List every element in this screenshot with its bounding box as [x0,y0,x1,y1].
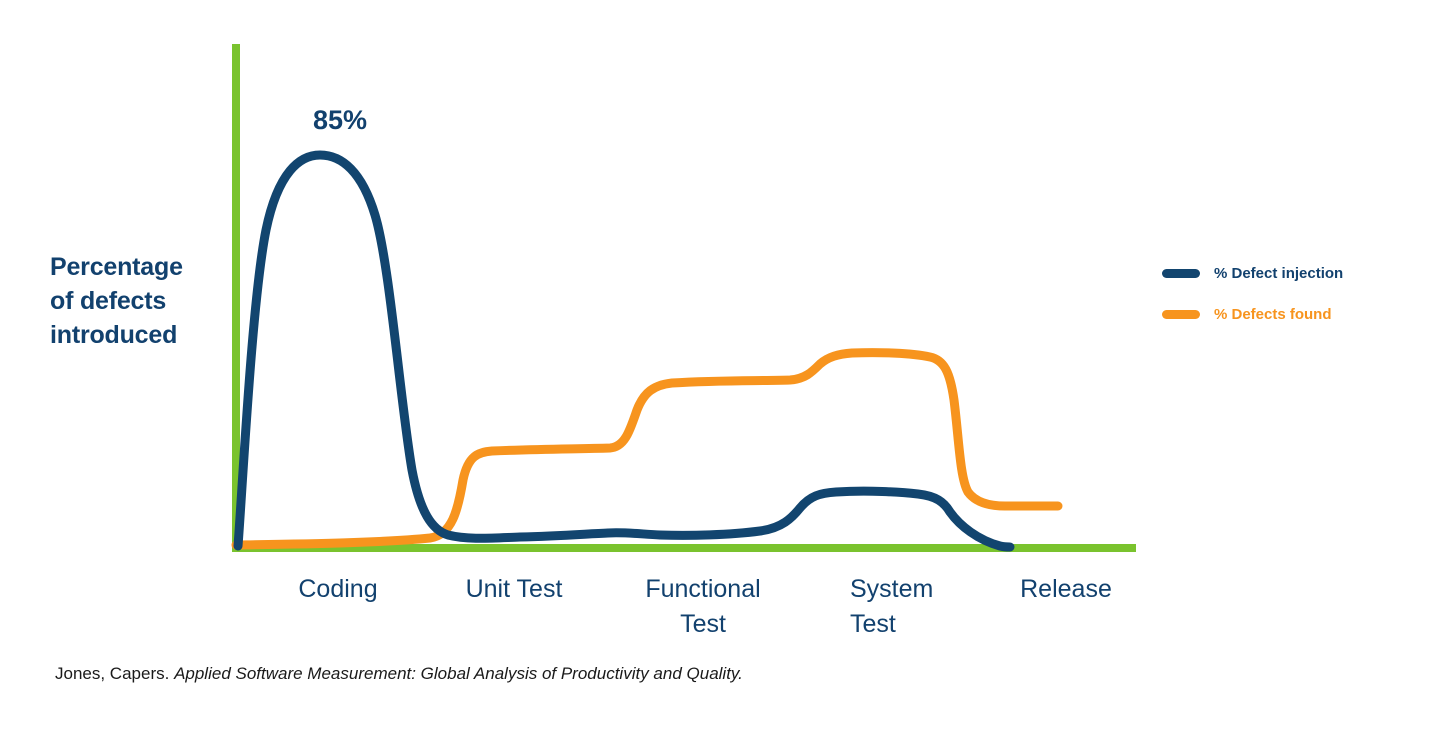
legend-item-defects-found: % Defects found [1162,299,1392,329]
caption-title: Applied Software Measurement: Global Ana… [174,664,743,683]
x-axis-label-coding: Coding [278,572,398,607]
legend-label-defect-injection: % Defect injection [1214,265,1343,282]
x-axis-label-system-test: System Test [850,572,940,642]
series-line-defects-found [236,353,1058,545]
defect-injection-chart: Percentage of defects introduced 85% Cod… [0,0,1440,732]
legend-item-defect-injection: % Defect injection [1162,258,1392,288]
x-axis-label-unit-test: Unit Test [450,572,578,607]
legend-label-defects-found: % Defects found [1214,306,1332,323]
legend-swatch-defect-injection [1162,269,1200,278]
x-axis-label-release: Release [1010,572,1122,607]
x-axis-label-functional-test: Functional Test [635,572,771,642]
chart-legend: % Defect injection % Defects found [1162,258,1392,340]
caption-author: Jones, Capers. [55,664,174,683]
legend-swatch-defects-found [1162,310,1200,319]
source-caption: Jones, Capers. Applied Software Measurem… [55,664,743,684]
